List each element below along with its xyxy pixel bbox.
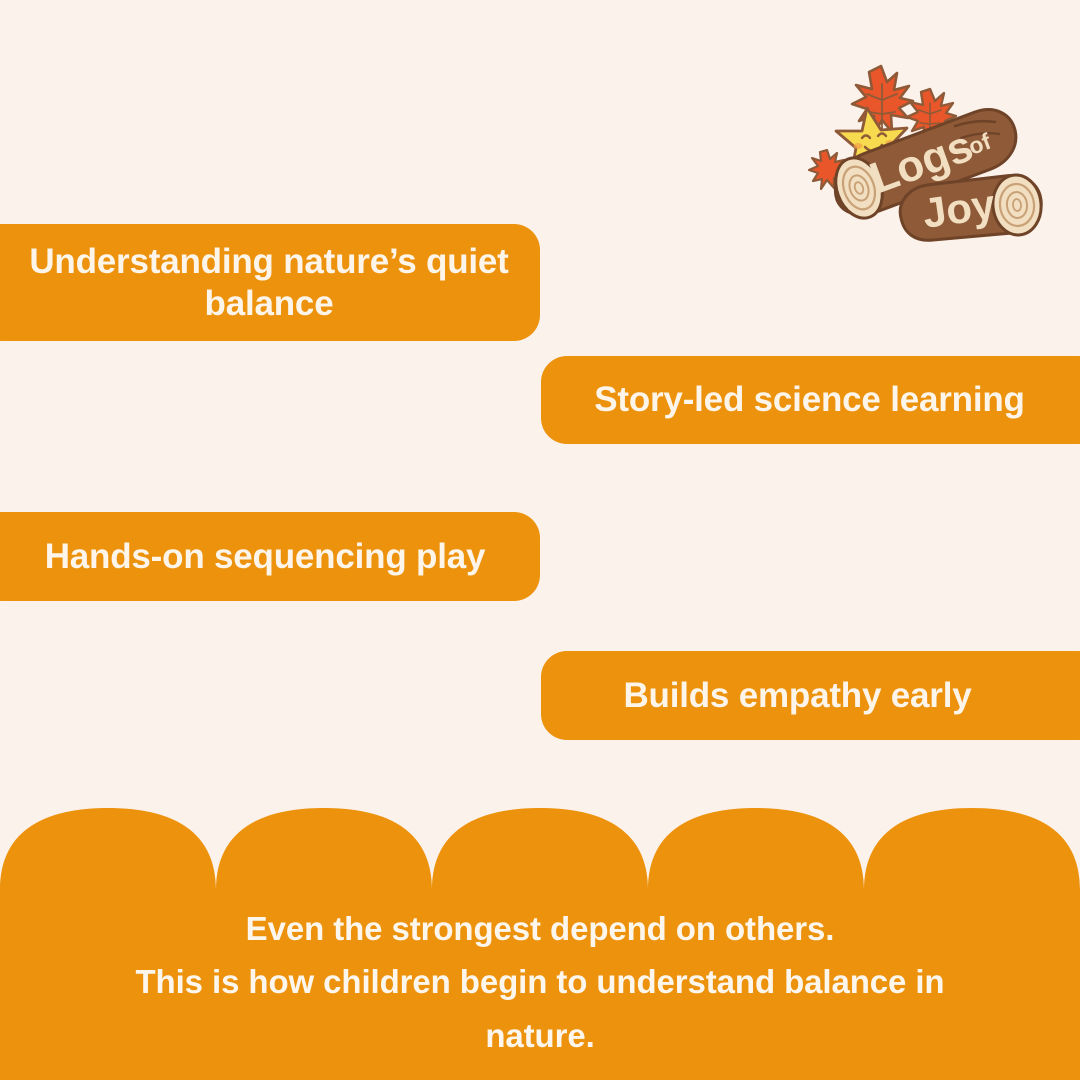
logo-artwork: Logs of Joy (805, 42, 1060, 247)
feature-pill-3-label: Hands-on sequencing play (45, 536, 486, 577)
banner-line-2: This is how children begin to understand… (0, 955, 1080, 1008)
banner-line-3: nature. (0, 1009, 1080, 1062)
poster-canvas: Logs of Joy Understanding nature’s quiet… (0, 0, 1080, 1080)
logo-word-joy: Joy (920, 180, 999, 237)
maple-leaf-large-icon (852, 66, 913, 134)
feature-pill-3[interactable]: Hands-on sequencing play (0, 512, 540, 601)
feature-pill-1[interactable]: Understanding nature’s quiet balance (0, 224, 540, 341)
scalloped-banner: Even the strongest depend on others. Thi… (0, 800, 1080, 1080)
feature-pill-2-label: Story-led science learning (594, 379, 1025, 420)
feature-pill-4-label: Builds empathy early (623, 675, 971, 716)
banner-line-1: Even the strongest depend on others. (0, 902, 1080, 955)
logs-of-joy-logo: Logs of Joy (805, 42, 1060, 247)
feature-pill-1-label: Understanding nature’s quiet balance (20, 241, 518, 324)
banner-message: Even the strongest depend on others. Thi… (0, 800, 1080, 1080)
feature-pill-4[interactable]: Builds empathy early (541, 651, 1080, 740)
feature-pill-2[interactable]: Story-led science learning (541, 356, 1080, 444)
